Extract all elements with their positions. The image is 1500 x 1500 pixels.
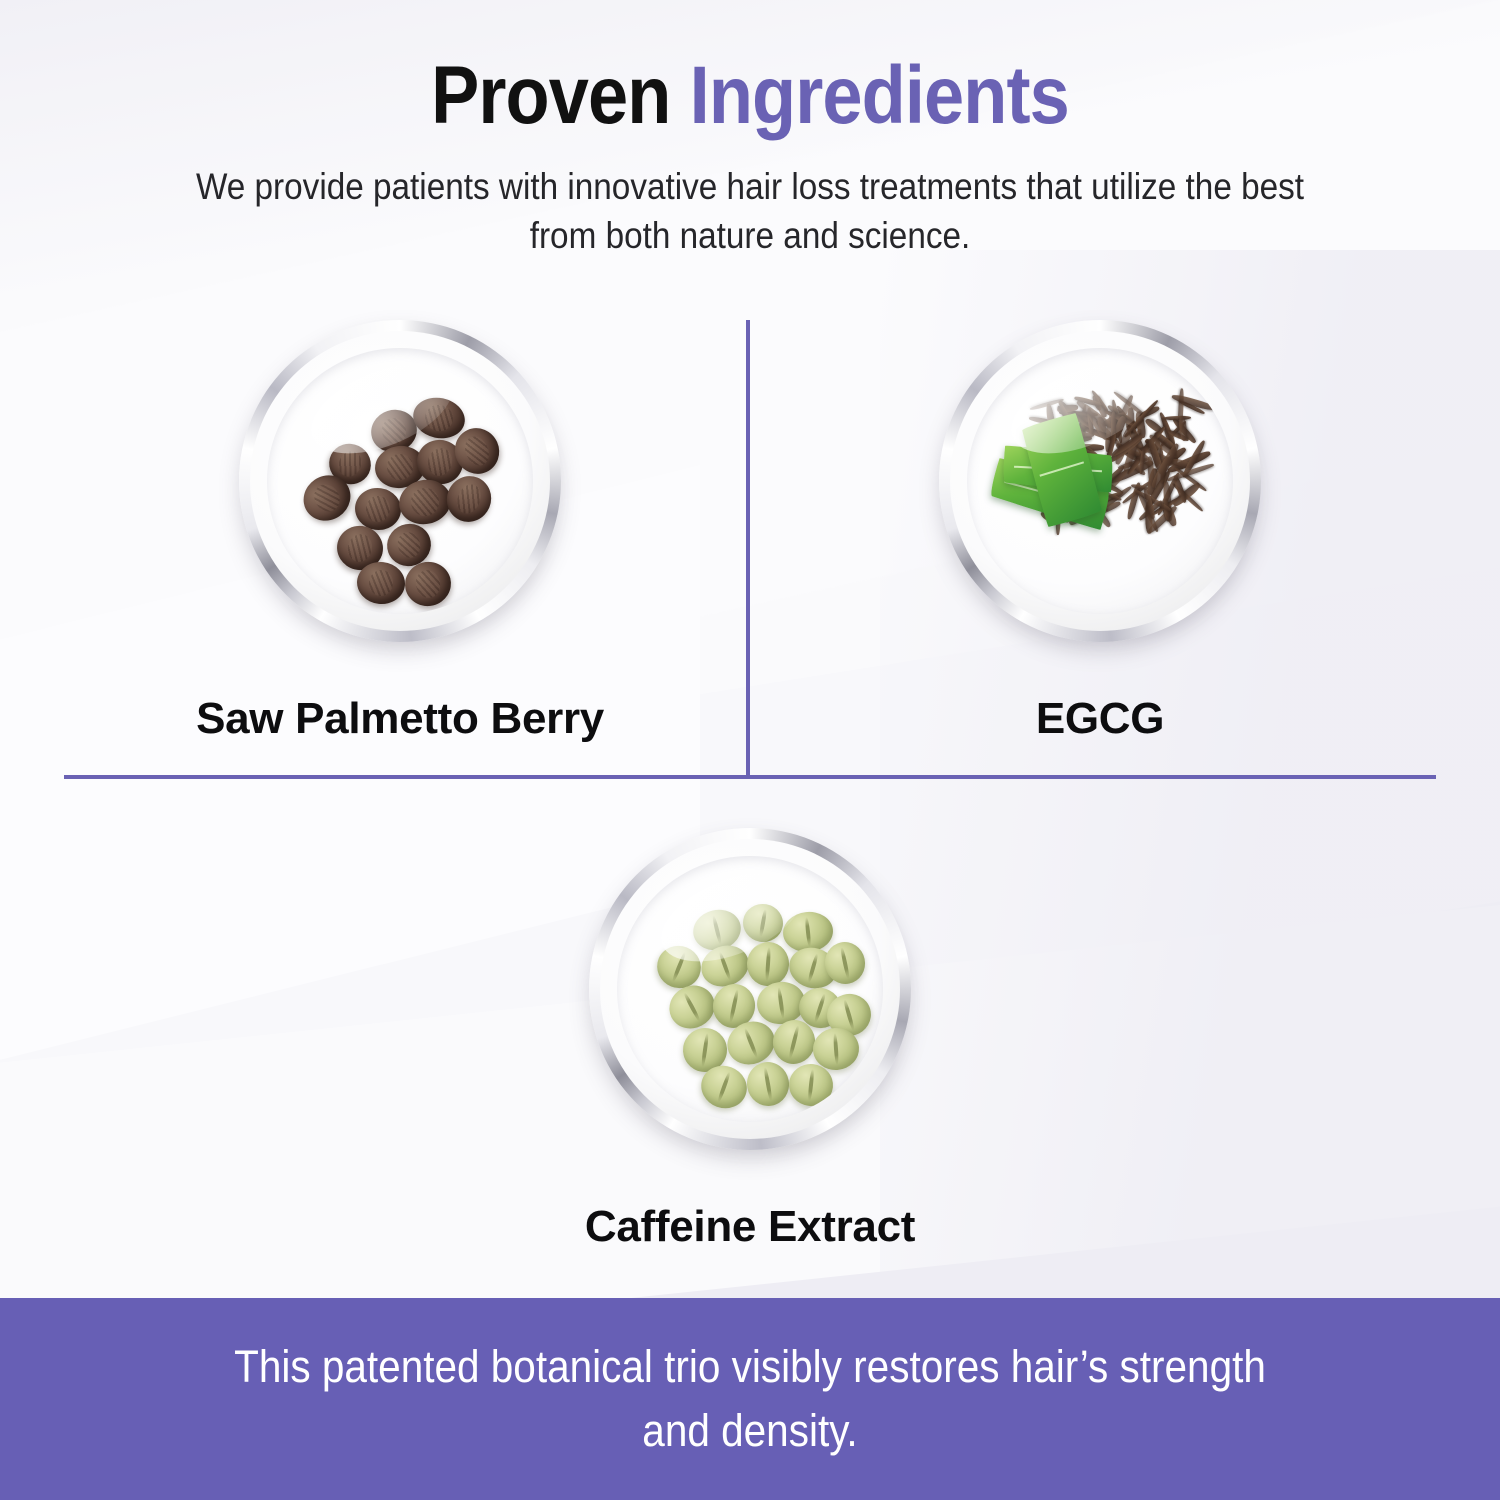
section-divider-vertical	[746, 320, 750, 777]
petri-dish-green-coffee-beans	[589, 828, 911, 1150]
green-coffee-bean-item	[740, 901, 786, 945]
dish-interior	[267, 348, 533, 614]
footer-banner-text: This patented botanical trio visibly res…	[201, 1335, 1299, 1463]
page-subtitle: We provide patients with innovative hair…	[170, 163, 1331, 261]
green-coffee-bean-item	[743, 1059, 792, 1110]
ingredient-card-egcg: EGCG	[760, 320, 1440, 744]
page-title: Proven Ingredients	[90, 0, 1410, 137]
footer-banner: This patented botanical trio visibly res…	[0, 1298, 1500, 1500]
petri-dish-saw-palmetto-berries	[239, 320, 561, 642]
ingredient-card-caffeine-extract: Caffeine Extract	[410, 828, 1090, 1252]
ingredient-card-saw-palmetto-berry: Saw Palmetto Berry	[60, 320, 740, 744]
ingredient-contents-tea	[1011, 378, 1197, 546]
section-divider-horizontal	[64, 775, 1436, 779]
ingredient-label: EGCG	[760, 694, 1440, 744]
header: Proven Ingredients We provide patients w…	[0, 0, 1500, 261]
dish-interior	[617, 856, 883, 1122]
ingredient-label: Caffeine Extract	[410, 1202, 1090, 1252]
petri-dish-dried-tea-leaves	[939, 320, 1261, 642]
green-coffee-bean-item	[746, 941, 791, 988]
page-title-primary: Proven	[431, 50, 670, 141]
ingredient-label: Saw Palmetto Berry	[60, 694, 740, 744]
page-title-accent: Ingredients	[690, 50, 1069, 141]
dish-interior	[967, 348, 1233, 614]
infographic-canvas: Proven Ingredients We provide patients w…	[0, 0, 1500, 1500]
